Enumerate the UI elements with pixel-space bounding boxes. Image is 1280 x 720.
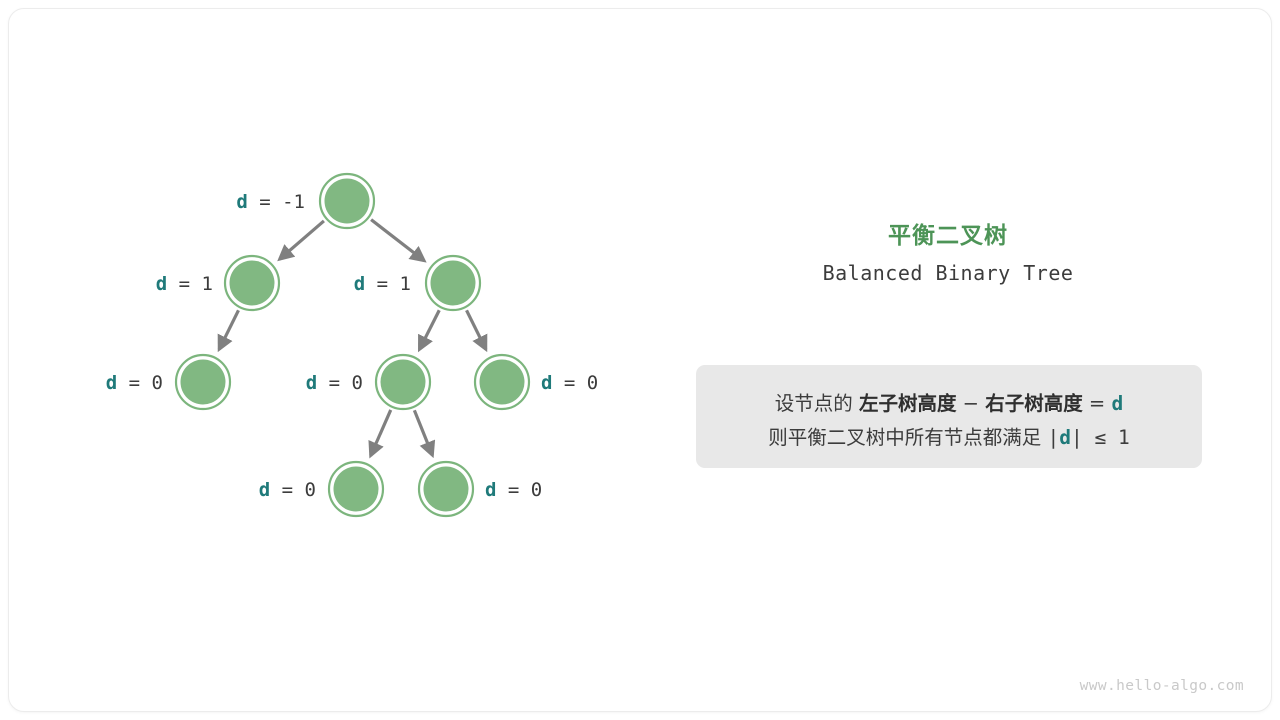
tree-edge bbox=[280, 221, 324, 259]
tree-edge bbox=[371, 410, 391, 456]
tree-node[interactable] bbox=[329, 462, 383, 516]
definition-box: 设节点的 左子树高度 − 右子树高度 = d 则平衡二叉树中所有节点都满足 |d… bbox=[696, 365, 1202, 468]
node-balance-label: d = 0 bbox=[485, 479, 542, 501]
node-balance-label: d = -1 bbox=[236, 191, 305, 213]
equals-operator: = bbox=[1083, 392, 1112, 415]
tree-edge bbox=[419, 310, 439, 349]
node-balance-label: d = 1 bbox=[156, 273, 213, 295]
tree-nodes bbox=[176, 174, 529, 516]
tree-node-labels: d = -1d = 1d = 1d = 0d = 0d = 0d = 0d = … bbox=[106, 191, 598, 501]
left-subtree-height-label: 左子树高度 bbox=[859, 392, 957, 415]
binary-tree-diagram: d = -1d = 1d = 1d = 0d = 0d = 0d = 0d = … bbox=[0, 0, 1280, 720]
minus-operator: − bbox=[956, 392, 985, 415]
diagram-canvas: d = -1d = 1d = 1d = 0d = 0d = 0d = 0d = … bbox=[0, 0, 1280, 720]
node-balance-label: d = 0 bbox=[541, 372, 598, 394]
d-variable-abs: d bbox=[1059, 426, 1071, 449]
node-fill-circle bbox=[325, 179, 370, 224]
node-balance-label: d = 0 bbox=[259, 479, 316, 501]
tree-edge bbox=[414, 410, 432, 455]
node-balance-label: d = 0 bbox=[106, 372, 163, 394]
definition-line-1: 设节点的 左子树高度 − 右子树高度 = d bbox=[696, 387, 1202, 416]
definition-line-2: 则平衡二叉树中所有节点都满足 |d| ≤ 1 bbox=[696, 421, 1202, 450]
node-fill-circle bbox=[424, 467, 469, 512]
tree-edge bbox=[219, 310, 238, 349]
node-balance-label: d = 1 bbox=[354, 273, 411, 295]
abs-bar-close: | bbox=[1071, 426, 1083, 449]
tree-node[interactable] bbox=[419, 462, 473, 516]
right-subtree-height-label: 右子树高度 bbox=[985, 392, 1083, 415]
node-fill-circle bbox=[230, 261, 275, 306]
abs-bar-open: | bbox=[1047, 426, 1059, 449]
tree-node[interactable] bbox=[320, 174, 374, 228]
node-fill-circle bbox=[480, 360, 525, 405]
tree-node[interactable] bbox=[426, 256, 480, 310]
node-fill-circle bbox=[334, 467, 379, 512]
tree-node[interactable] bbox=[376, 355, 430, 409]
d-variable: d bbox=[1111, 392, 1123, 415]
node-balance-label: d = 0 bbox=[306, 372, 363, 394]
watermark-url: www.hello-algo.com bbox=[1080, 678, 1244, 694]
inequality-suffix: ≤ 1 bbox=[1083, 426, 1130, 449]
tree-node[interactable] bbox=[176, 355, 230, 409]
page-title: 平衡二叉树 bbox=[660, 222, 1236, 250]
definition-prefix: 设节点的 bbox=[775, 392, 859, 415]
tree-edge bbox=[371, 220, 424, 261]
tree-node[interactable] bbox=[225, 256, 279, 310]
tree-edge bbox=[467, 310, 486, 349]
node-fill-circle bbox=[431, 261, 476, 306]
definition-line-2-prefix: 则平衡二叉树中所有节点都满足 bbox=[768, 426, 1047, 449]
page-subtitle: Balanced Binary Tree bbox=[660, 260, 1236, 286]
tree-node[interactable] bbox=[475, 355, 529, 409]
right-panel: 平衡二叉树 Balanced Binary Tree bbox=[660, 222, 1240, 286]
node-fill-circle bbox=[381, 360, 426, 405]
tree-edges bbox=[219, 220, 486, 456]
node-fill-circle bbox=[181, 360, 226, 405]
